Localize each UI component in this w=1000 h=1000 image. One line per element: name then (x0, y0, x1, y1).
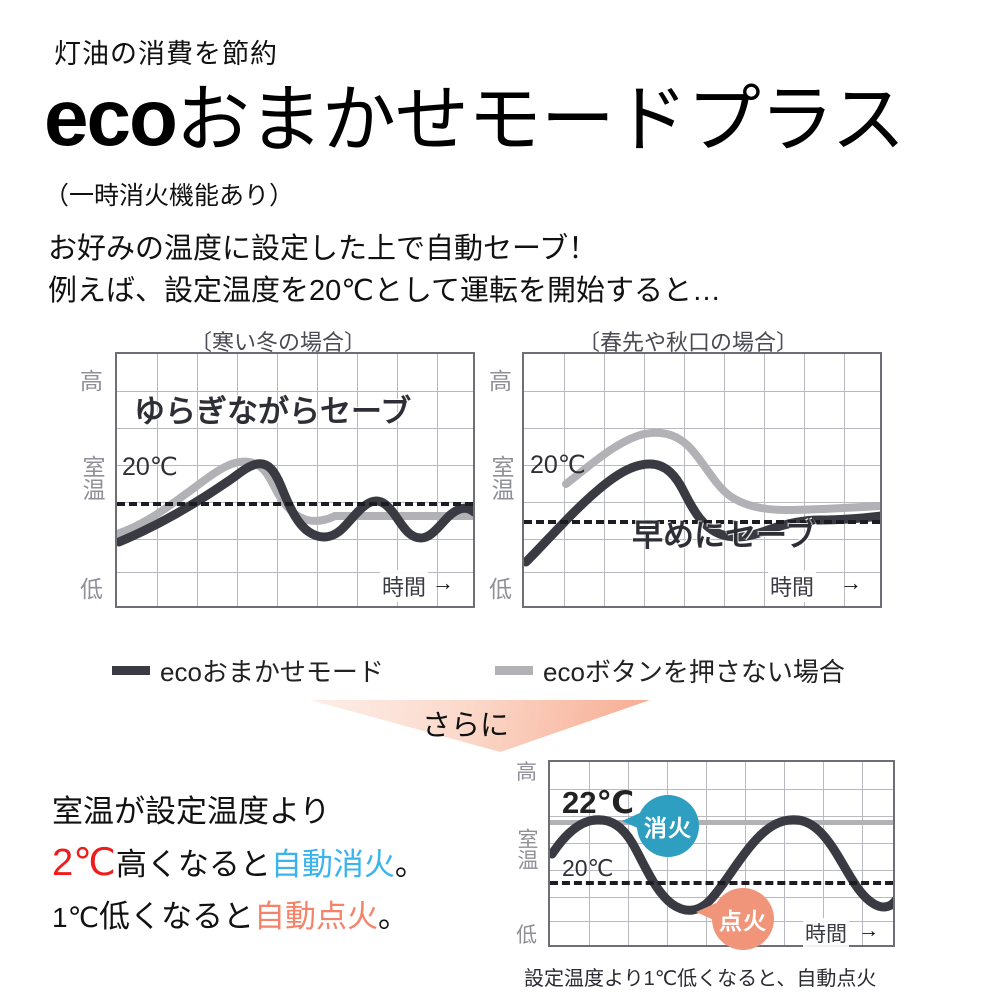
time-axis-label-bottom: 時間 (803, 918, 849, 948)
subnote-text: （一時消火機能あり） (44, 176, 294, 212)
auto-extinguish-text: 自動消火 (271, 847, 395, 882)
bottom-copy-line-3: 1℃低くなると自動点火。 (52, 893, 426, 940)
bubble-extinguish: 消火 (637, 795, 699, 857)
lead-line-1: お好みの温度に設定した上で自動セーブ！ (48, 228, 721, 270)
time-axis-label-left: 時間 (380, 570, 428, 602)
lead-line-2: 例えば、設定温度を20℃として運転を開始すると… (48, 270, 721, 312)
banner-label: さらに (422, 702, 509, 744)
page-title: ecoおまかせモードプラス (44, 78, 904, 158)
axis-label-low-right: 低 (489, 578, 512, 601)
bubble-ignite-label: 点火 (719, 902, 767, 936)
auto-ignite-text: 自動点火 (254, 899, 378, 934)
infographic-page: 灯油の消費を節約 ecoおまかせモードプラス （一時消火機能あり） お好みの温度… (0, 0, 1000, 1000)
bottom-caption: 設定温度より1℃低くなると、自動点火 (524, 962, 876, 991)
legend-item-eco: ecoおまかせモード (112, 652, 384, 689)
time-arrow-icon-right: → (840, 572, 862, 594)
further-banner: さらに (310, 700, 650, 752)
bottom-copy-line-3-end: 。 (378, 899, 409, 934)
axis-label-low-bottom: 低 (516, 925, 537, 946)
setpoint-label-bottom: 20℃ (562, 855, 613, 882)
bottom-copy-line-1: 室温が設定温度より (52, 788, 426, 835)
chart-curves-spring-autumn (524, 354, 882, 608)
time-axis-label-right: 時間 (768, 570, 816, 602)
time-arrow-icon-bottom: → (858, 920, 879, 941)
legend-swatch-no-eco-icon (495, 666, 533, 675)
axis-label-high-bottom: 高 (516, 762, 537, 783)
temp-delta-1c: 1℃ (52, 902, 99, 933)
setpoint-label-left: 20℃ (122, 452, 178, 482)
kicker-text: 灯油の消費を節約 (54, 32, 278, 71)
legend-item-no-eco: ecoボタンを押さない場合 (495, 652, 845, 689)
legend-label-no-eco: ecoボタンを押さない場合 (543, 652, 845, 689)
legend-swatch-eco-icon (112, 666, 150, 675)
bottom-copy-line-3-mid: 低くなると (99, 899, 254, 934)
title-rest: おまかせモードプラス (176, 78, 905, 161)
bottom-copy-line-2-end: 。 (395, 847, 426, 882)
title-eco: eco (44, 73, 176, 162)
overlay-text-spring-autumn: 早めにセーブ (632, 510, 816, 555)
setpoint-label-right: 20℃ (530, 450, 586, 480)
axis-label-high-right: 高 (489, 370, 512, 393)
axis-label-roomtemp-right: 室温 (489, 455, 512, 535)
bubble-ignite-tail-icon (696, 903, 716, 921)
overlay-text-cold-winter: ゆらぎながらセーブ (134, 386, 411, 431)
bottom-copy-line-2-mid: 高くなると (116, 847, 271, 882)
chart-spring-autumn (522, 352, 882, 608)
lead-text: お好みの温度に設定した上で自動セーブ！ 例えば、設定温度を20℃として運転を開始… (48, 228, 721, 312)
bubble-extinguish-tail-icon (622, 812, 642, 830)
axis-label-high-left: 高 (80, 370, 103, 393)
bottom-copy-line-2: 2℃高くなると自動消火。 (52, 835, 426, 893)
bubble-extinguish-label: 消火 (644, 809, 692, 843)
bubble-ignite: 点火 (712, 888, 774, 950)
axis-label-roomtemp-left: 室温 (80, 455, 103, 535)
bottom-copy-block: 室温が設定温度より 2℃高くなると自動消火。 1℃低くなると自動点火。 (52, 788, 426, 940)
temp-delta-2c: 2 (52, 842, 73, 884)
time-arrow-icon-left: → (432, 572, 454, 594)
axis-label-roomtemp-bottom: 室温 (516, 828, 537, 900)
degree-symbol-red: ℃ (73, 842, 116, 884)
legend-label-eco: ecoおまかせモード (160, 652, 384, 689)
setpoint-dashed-line-left (117, 502, 473, 506)
axis-label-low-left: 低 (80, 578, 103, 601)
